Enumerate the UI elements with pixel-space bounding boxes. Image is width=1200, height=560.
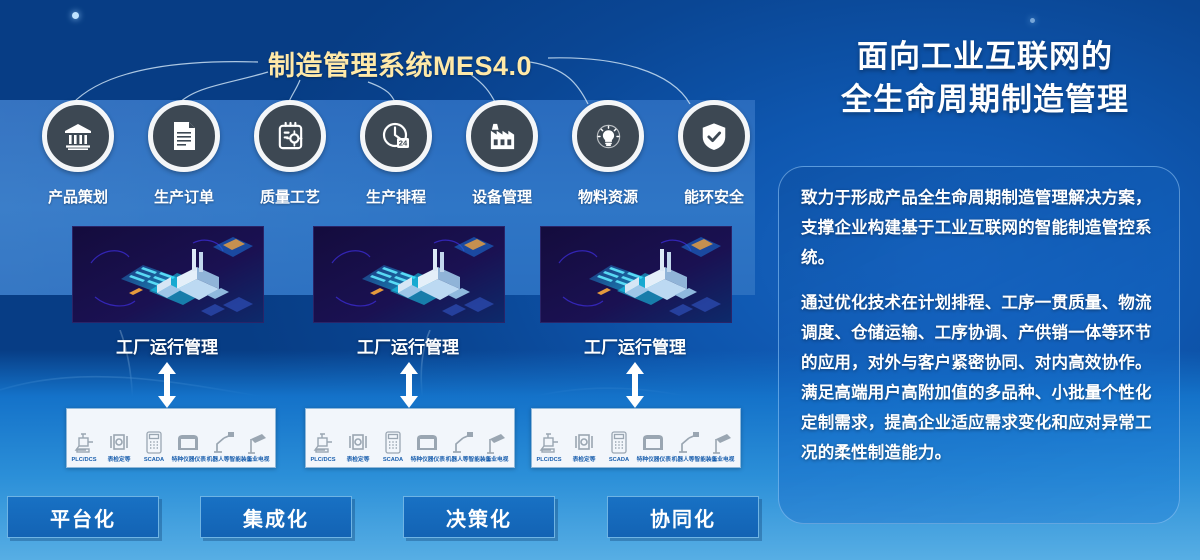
- module-item-material-resource[interactable]: 物料资源: [554, 100, 662, 207]
- device-item[interactable]: SCADA: [603, 421, 635, 467]
- industrial-camera-icon: [481, 421, 513, 455]
- meter-gauge-icon: [568, 421, 600, 455]
- bank-icon: [42, 100, 114, 172]
- capability-tag-decision[interactable]: 决策化: [403, 496, 555, 538]
- device-label: 表检定等: [103, 457, 136, 463]
- module-item-quality-process[interactable]: 质量工艺: [236, 100, 344, 207]
- bidirectional-arrow: [156, 362, 178, 408]
- decor-dot: [1030, 18, 1035, 23]
- module-label: 质量工艺: [236, 186, 344, 207]
- clock-24-icon: 24: [360, 100, 432, 172]
- device-label: 工业电视: [706, 457, 739, 463]
- capability-tag-row: 平台化 集成化 决策化 协同化: [0, 496, 775, 536]
- device-label: 机器人等智能装备: [672, 457, 705, 463]
- device-item[interactable]: 工业电视: [242, 421, 274, 467]
- industrial-camera-icon: [707, 421, 739, 455]
- device-item[interactable]: 机器人等智能装备: [446, 421, 478, 467]
- instrument-icon: [172, 421, 204, 455]
- capability-tag-collaboration[interactable]: 协同化: [607, 496, 759, 538]
- capability-tag-platform[interactable]: 平台化: [7, 496, 159, 538]
- device-label: 特种仪器仪表: [637, 457, 670, 463]
- device-item[interactable]: 工业电视: [481, 421, 513, 467]
- device-label: PLC/DCS: [307, 457, 340, 463]
- tag-label: 集成化: [243, 503, 309, 532]
- device-item[interactable]: SCADA: [377, 421, 409, 467]
- headline: 面向工业互联网的 全生命周期制造管理: [775, 36, 1195, 122]
- factory-card-title: 工厂运行管理: [540, 333, 730, 358]
- device-label: SCADA: [376, 457, 409, 463]
- description-paragraph-2: 通过优化技术在计划排程、工序一贯质量、物流调度、仓储运输、工序协调、产供销一体等…: [801, 288, 1157, 468]
- plc-controller-icon: [307, 421, 339, 455]
- device-strip: PLC/DCS 表检定等 SCADA: [531, 408, 741, 468]
- scada-panel-icon: [377, 421, 409, 455]
- bidirectional-arrow: [624, 362, 646, 408]
- scada-panel-icon: [603, 421, 635, 455]
- plc-controller-icon: [68, 421, 100, 455]
- device-label: 工业电视: [241, 457, 274, 463]
- module-item-production-order[interactable]: 生产订单: [130, 100, 238, 207]
- device-item[interactable]: 机器人等智能装备: [672, 421, 704, 467]
- device-item[interactable]: 表检定等: [342, 421, 374, 467]
- device-label: 工业电视: [480, 457, 513, 463]
- device-label: SCADA: [137, 457, 170, 463]
- device-item[interactable]: PLC/DCS: [533, 421, 565, 467]
- device-item[interactable]: SCADA: [138, 421, 170, 467]
- module-item-equipment-management[interactable]: 设备管理: [448, 100, 556, 207]
- module-icon-row: 产品策划 生产订单: [0, 100, 755, 220]
- shield-check-icon: [678, 100, 750, 172]
- device-label: SCADA: [602, 457, 635, 463]
- factory-card[interactable]: 工厂运行管理: [313, 226, 503, 358]
- device-item[interactable]: 工业电视: [707, 421, 739, 467]
- instrument-icon: [637, 421, 669, 455]
- device-label: 表检定等: [568, 457, 601, 463]
- headline-line-2: 全生命周期制造管理: [775, 79, 1195, 122]
- clipboard-gear-icon: [254, 100, 326, 172]
- robot-arm-icon: [672, 421, 704, 455]
- factory-card-title: 工厂运行管理: [313, 333, 503, 358]
- lightbulb-icon: [572, 100, 644, 172]
- device-item[interactable]: PLC/DCS: [68, 421, 100, 467]
- device-item[interactable]: 表检定等: [103, 421, 135, 467]
- description-card: 致力于形成产品全生命周期制造管理解决方案，支撑企业构建基于工业互联网的智能制造管…: [778, 166, 1180, 524]
- device-strip: PLC/DCS 表检定等 SCADA: [66, 408, 276, 468]
- module-label: 设备管理: [448, 186, 556, 207]
- device-item[interactable]: 特种仪器仪表: [172, 421, 204, 467]
- tag-label: 协同化: [650, 503, 716, 532]
- factory-icon: [466, 100, 538, 172]
- device-label: PLC/DCS: [533, 457, 566, 463]
- description-paragraph-1: 致力于形成产品全生命周期制造管理解决方案，支撑企业构建基于工业互联网的智能制造管…: [801, 183, 1157, 273]
- industrial-camera-icon: [242, 421, 274, 455]
- capability-tag-integration[interactable]: 集成化: [200, 496, 352, 538]
- factory-illustration: [313, 226, 505, 323]
- device-label: 机器人等智能装备: [446, 457, 479, 463]
- factory-illustration: [72, 226, 264, 323]
- factory-card[interactable]: 工厂运行管理: [540, 226, 730, 358]
- device-item[interactable]: PLC/DCS: [307, 421, 339, 467]
- plc-controller-icon: [533, 421, 565, 455]
- robot-arm-icon: [446, 421, 478, 455]
- mes-title: 制造管理系统MES4.0: [268, 44, 532, 83]
- scada-panel-icon: [138, 421, 170, 455]
- meter-gauge-icon: [103, 421, 135, 455]
- module-label: 能环安全: [660, 186, 768, 207]
- device-label: 表检定等: [342, 457, 375, 463]
- instrument-icon: [411, 421, 443, 455]
- module-item-product-planning[interactable]: 产品策划: [24, 100, 132, 207]
- device-strip: PLC/DCS 表检定等 SCADA: [305, 408, 515, 468]
- device-item[interactable]: 特种仪器仪表: [411, 421, 443, 467]
- meter-gauge-icon: [342, 421, 374, 455]
- bidirectional-arrow: [398, 362, 420, 408]
- module-item-production-schedule[interactable]: 24 生产排程: [342, 100, 450, 207]
- factory-illustration: [540, 226, 732, 323]
- tag-label: 平台化: [50, 503, 116, 532]
- device-label: 机器人等智能装备: [207, 457, 240, 463]
- factory-card-row: 工厂运行管理: [0, 226, 760, 361]
- factory-card[interactable]: 工厂运行管理: [72, 226, 262, 358]
- robot-arm-icon: [207, 421, 239, 455]
- document-icon: [148, 100, 220, 172]
- module-label: 生产排程: [342, 186, 450, 207]
- module-item-energy-safety[interactable]: 能环安全: [660, 100, 768, 207]
- device-label: PLC/DCS: [68, 457, 101, 463]
- slide-canvas: 制造管理系统MES4.0 产品策划: [0, 0, 1200, 560]
- headline-line-1: 面向工业互联网的: [775, 36, 1195, 79]
- factory-card-title: 工厂运行管理: [72, 333, 262, 358]
- tag-label: 决策化: [446, 503, 512, 532]
- module-label: 生产订单: [130, 186, 238, 207]
- svg-text:24: 24: [399, 139, 408, 148]
- device-item[interactable]: 特种仪器仪表: [637, 421, 669, 467]
- module-label: 产品策划: [24, 186, 132, 207]
- module-label: 物料资源: [554, 186, 662, 207]
- device-item[interactable]: 机器人等智能装备: [207, 421, 239, 467]
- device-item[interactable]: 表检定等: [568, 421, 600, 467]
- device-label: 特种仪器仪表: [172, 457, 205, 463]
- device-label: 特种仪器仪表: [411, 457, 444, 463]
